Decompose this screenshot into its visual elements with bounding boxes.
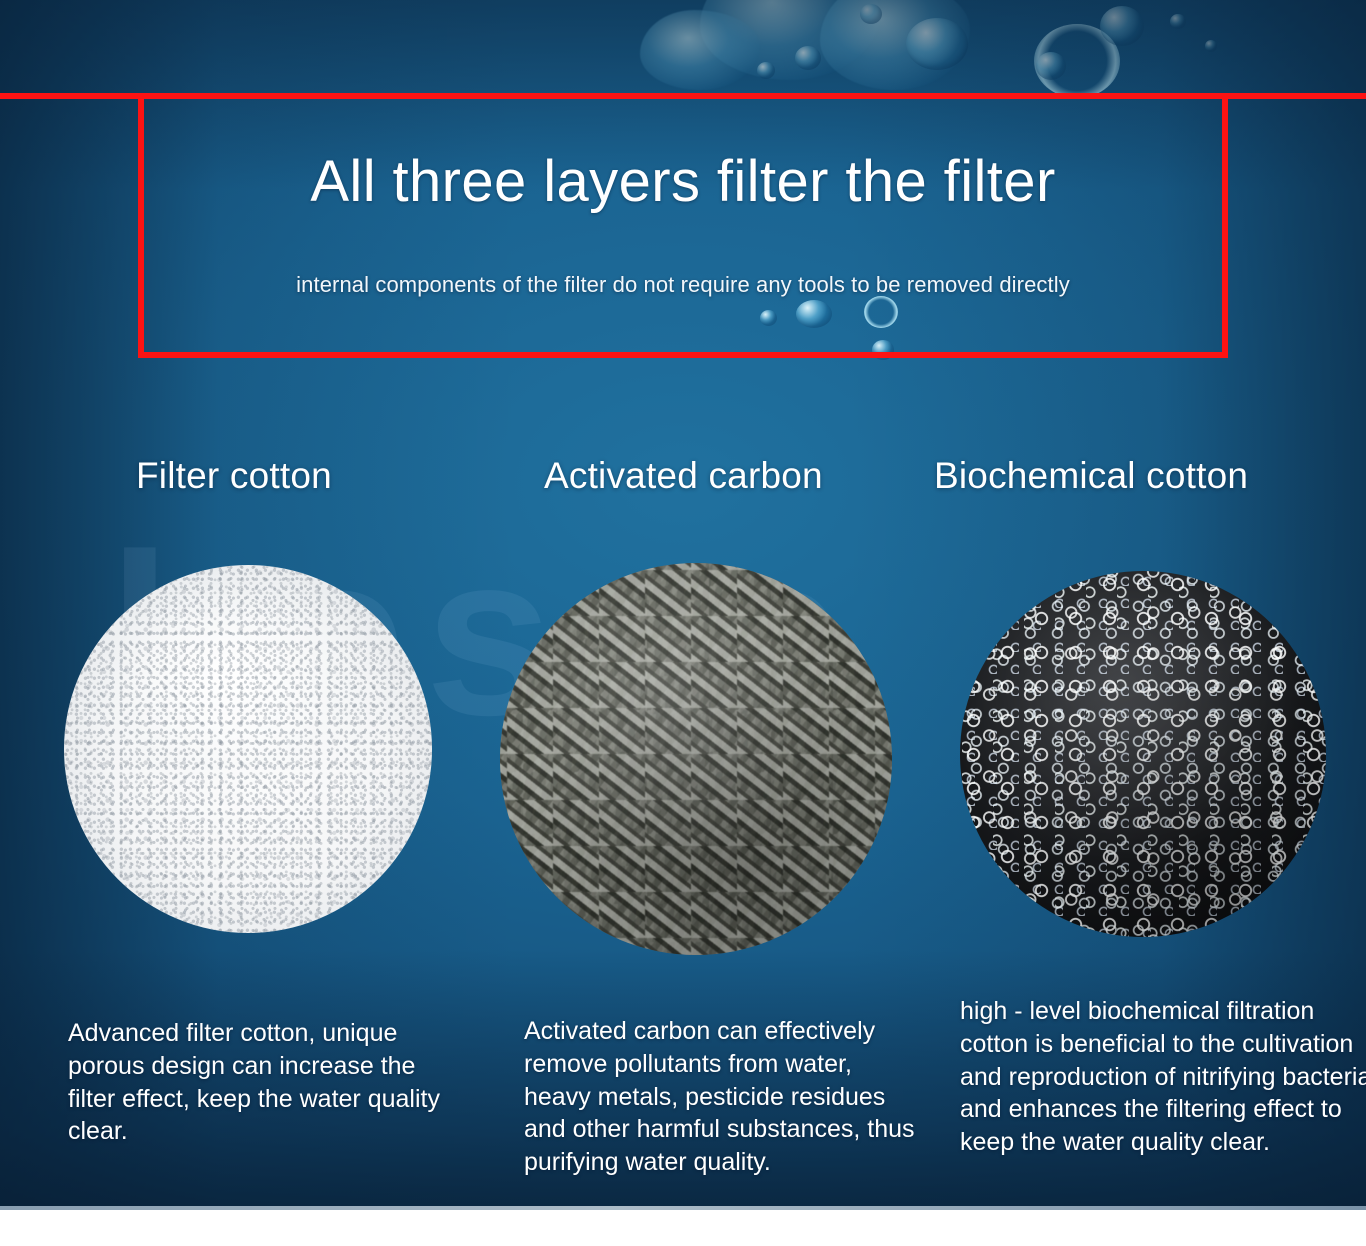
activated-carbon-photo bbox=[500, 563, 892, 955]
feature-columns: Filter cotton Advanced filter cotton, un… bbox=[0, 455, 1366, 1210]
page-bottom-strip bbox=[0, 1210, 1366, 1246]
feature-body-activated-carbon: Activated carbon can effectively remove … bbox=[524, 1015, 916, 1179]
page-subtitle: internal components of the filter do not… bbox=[138, 272, 1228, 298]
filter-cotton-image bbox=[64, 565, 432, 933]
feature-body-biochemical-cotton: high - level biochemical filtration cott… bbox=[960, 995, 1366, 1159]
feature-title-filter-cotton: Filter cotton bbox=[58, 455, 488, 515]
feature-title-activated-carbon: Activated carbon bbox=[500, 455, 920, 515]
product-infographic-page: hosee All three layers filter the filter… bbox=[0, 0, 1366, 1246]
feature-column-biochemical-cotton: Biochemical cotton high - level biochemi… bbox=[930, 455, 1350, 1159]
feature-title-biochemical-cotton: Biochemical cotton bbox=[930, 455, 1350, 515]
feature-column-filter-cotton: Filter cotton Advanced filter cotton, un… bbox=[58, 455, 488, 1148]
activated-carbon-image bbox=[500, 563, 892, 955]
banner-artwork: hosee All three layers filter the filter… bbox=[0, 0, 1366, 1210]
red-annotation-box bbox=[138, 93, 1228, 358]
feature-column-activated-carbon: Activated carbon Activated carbon can ef… bbox=[500, 455, 920, 1179]
feature-body-filter-cotton: Advanced filter cotton, unique porous de… bbox=[68, 1017, 468, 1148]
page-title: All three layers filter the filter bbox=[138, 152, 1228, 213]
filter-cotton-photo bbox=[64, 565, 432, 933]
biochemical-cotton-photo bbox=[960, 571, 1326, 937]
biochemical-cotton-image bbox=[960, 571, 1326, 937]
